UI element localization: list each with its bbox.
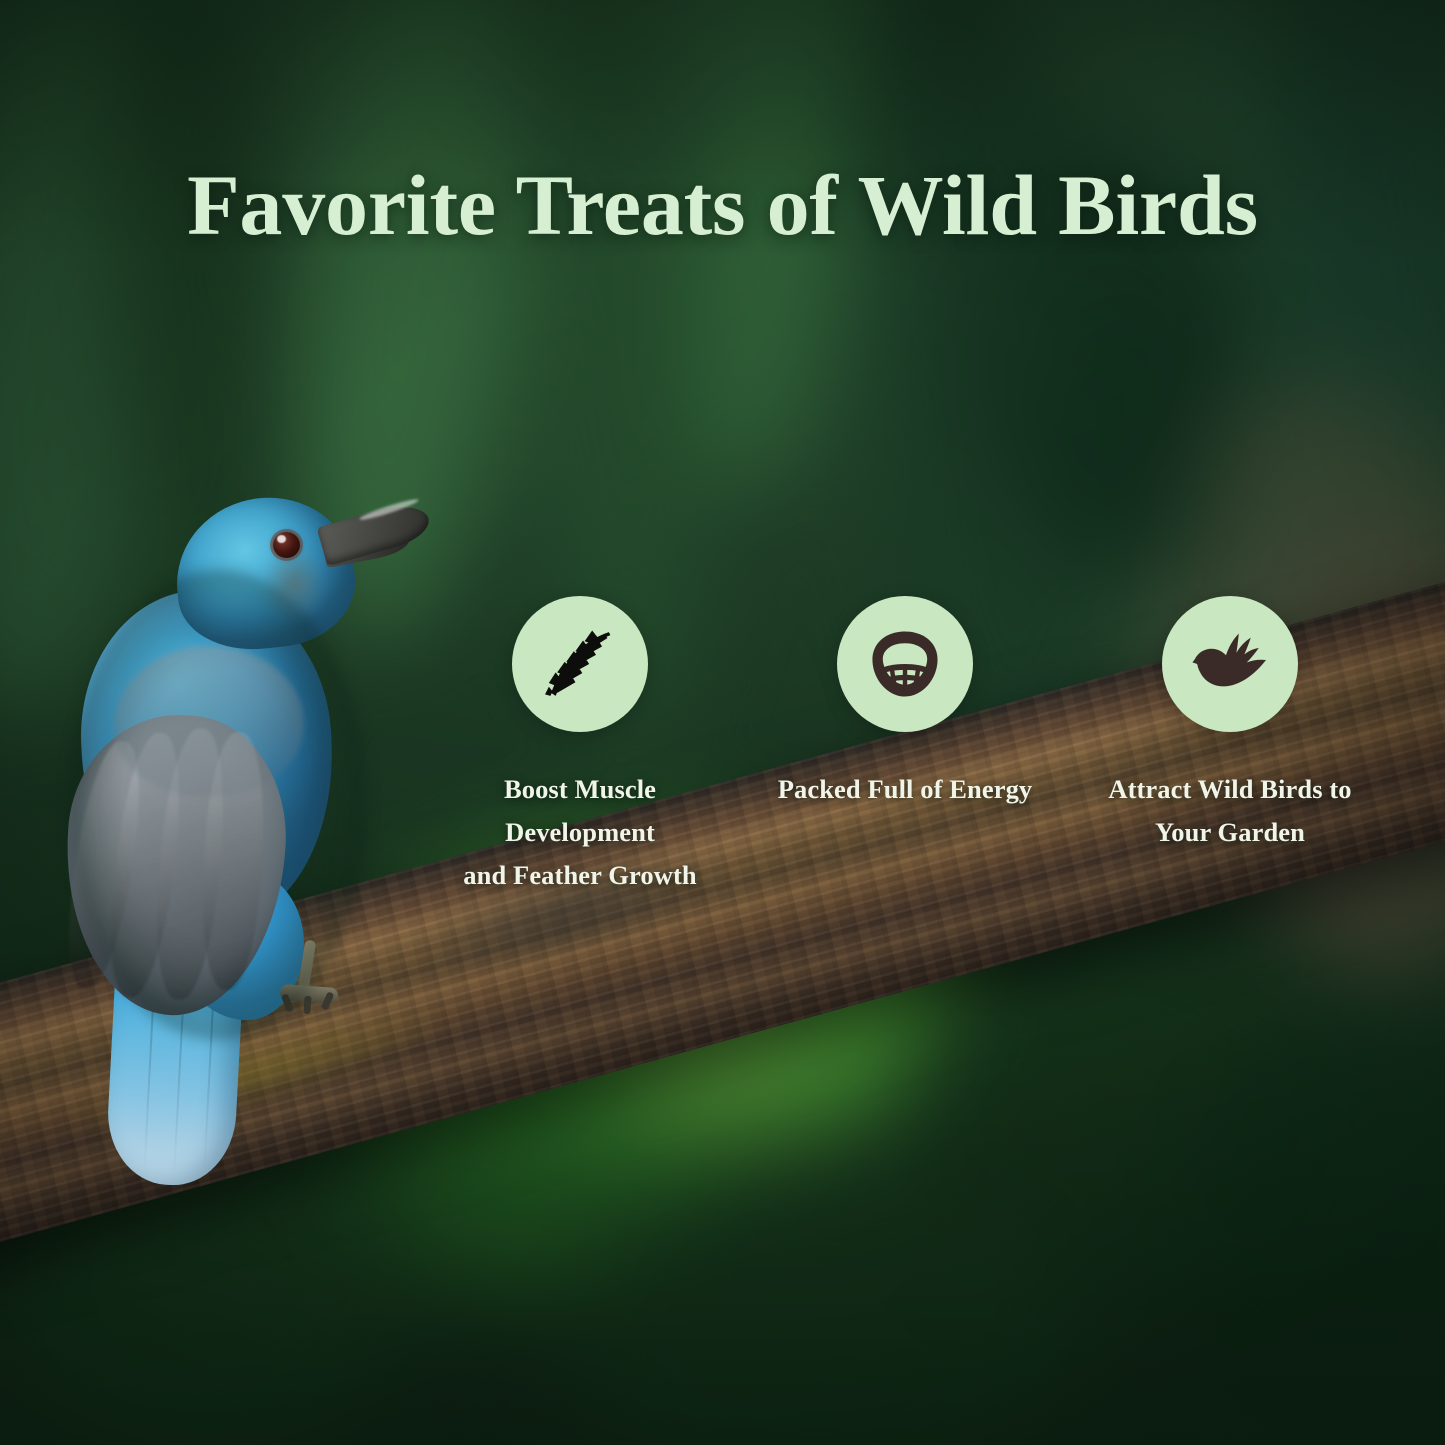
promo-banner: Favorite Treats of Wild Birds xyxy=(0,0,1445,1445)
feature-attract-birds: Attract Wild Birds to Your Garden xyxy=(1080,596,1380,854)
feature-icon-circle xyxy=(1162,596,1298,732)
feature-icon-circle xyxy=(512,596,648,732)
caption-line: Boost Muscle xyxy=(463,768,696,811)
feature-icon-circle xyxy=(837,596,973,732)
page-title: Favorite Treats of Wild Birds xyxy=(0,162,1445,248)
feature-badge-row: Boost Muscle Development and Feather Gro… xyxy=(430,596,1380,897)
blue-bird-photo-subject xyxy=(58,470,458,1170)
tree-branch xyxy=(0,865,1445,1445)
caption-line: and Feather Growth xyxy=(463,854,696,897)
caption-line: Your Garden xyxy=(1108,811,1351,854)
feature-packed-energy: Packed Full of Energy xyxy=(755,596,1055,811)
caption-line: Packed Full of Energy xyxy=(778,768,1033,811)
feather-icon xyxy=(542,626,618,702)
feature-caption: Boost Muscle Development and Feather Gro… xyxy=(463,768,696,897)
caption-line: Development xyxy=(463,811,696,854)
nest-basket-icon xyxy=(868,627,942,701)
feature-caption: Packed Full of Energy xyxy=(778,768,1033,811)
feature-caption: Attract Wild Birds to Your Garden xyxy=(1108,768,1351,854)
feature-boost-muscle: Boost Muscle Development and Feather Gro… xyxy=(430,596,730,897)
flying-bird-icon xyxy=(1190,624,1270,704)
caption-line: Attract Wild Birds to xyxy=(1108,768,1351,811)
